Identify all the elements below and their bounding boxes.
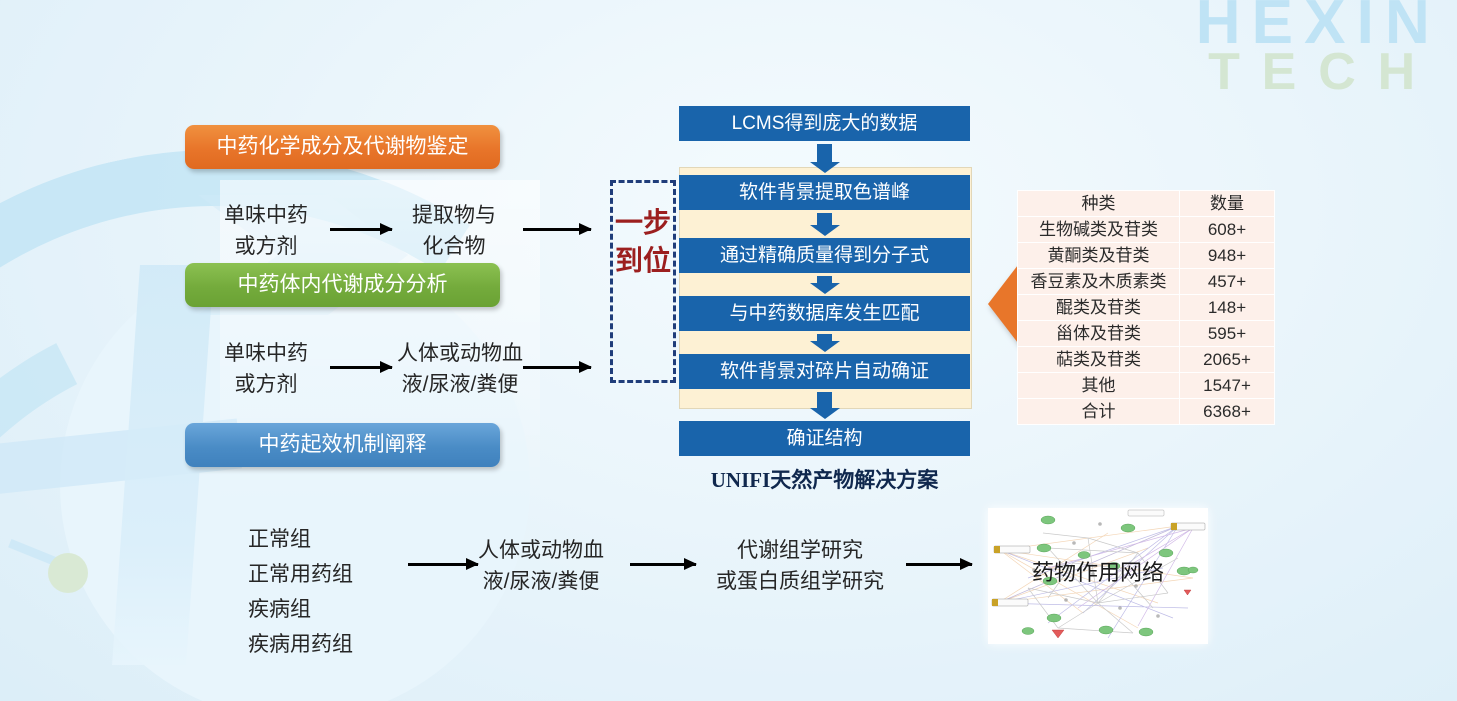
table-row-total: 合计 6368+ <box>1018 399 1275 425</box>
flow-extract-line2: 化合物 <box>384 231 524 262</box>
header-count: 数量 <box>1180 191 1275 217</box>
cell-count: 457+ <box>1180 269 1275 295</box>
flow-source-herb-1-line2: 或方剂 <box>196 231 336 262</box>
cell-category: 香豆素及木质素类 <box>1018 269 1180 295</box>
table-row: 醌类及苷类 148+ <box>1018 295 1275 321</box>
one-step-box: 一步到位 <box>610 180 676 383</box>
flow-extract-compound: 提取物与 化合物 <box>384 200 524 262</box>
group-item-disease: 疾病组 <box>248 593 311 623</box>
arrow-herb-to-extract <box>330 228 392 231</box>
center-box-result[interactable]: 确证结构 <box>679 421 970 456</box>
arrow-sample-to-study <box>630 563 696 566</box>
table-header-row: 种类 数量 <box>1018 191 1275 217</box>
cell-category: 甾体及苷类 <box>1018 321 1180 347</box>
arrow-down-4 <box>817 334 832 341</box>
arrow-down-5 <box>817 392 832 408</box>
one-step-text: 一步到位 <box>613 205 673 281</box>
group-item-normal: 正常组 <box>248 523 311 553</box>
cell-count: 2065+ <box>1180 347 1275 373</box>
stats-table: 种类 数量 生物碱类及苷类 608+ 黄酮类及苷类 948+ 香豆素及木质素类 … <box>1017 190 1275 425</box>
table-row: 萜类及苷类 2065+ <box>1018 347 1275 373</box>
center-box-step-1[interactable]: 软件背景提取色谱峰 <box>679 175 970 210</box>
section-pill-metabolism[interactable]: 中药体内代谢成分分析 <box>185 263 500 307</box>
flow-biofluid-line2: 液/尿液/粪便 <box>380 369 540 400</box>
cell-count: 948+ <box>1180 243 1275 269</box>
section-pill-chemistry[interactable]: 中药化学成分及代谢物鉴定 <box>185 125 500 169</box>
center-box-step-3[interactable]: 与中药数据库发生匹配 <box>679 296 970 331</box>
flow-bottom-study-line1: 代谢组学研究 <box>690 535 910 566</box>
cell-category: 合计 <box>1018 399 1180 425</box>
flow-source-herb-2: 单味中药 或方剂 <box>196 338 336 400</box>
flow-source-herb-2-line2: 或方剂 <box>196 369 336 400</box>
center-box-lcms[interactable]: LCMS得到庞大的数据 <box>679 106 970 141</box>
drug-network-label: 药物作用网络 <box>988 555 1208 587</box>
arrow-study-to-network <box>906 563 972 566</box>
cell-category: 黄酮类及苷类 <box>1018 243 1180 269</box>
cell-category: 萜类及苷类 <box>1018 347 1180 373</box>
stats-table-body: 种类 数量 生物碱类及苷类 608+ 黄酮类及苷类 948+ 香豆素及木质素类 … <box>1018 191 1275 425</box>
cell-count: 148+ <box>1180 295 1275 321</box>
flow-source-herb-1-line1: 单味中药 <box>196 200 336 231</box>
arrow-down-3 <box>817 276 832 283</box>
table-row: 香豆素及木质素类 457+ <box>1018 269 1275 295</box>
cell-category: 醌类及苷类 <box>1018 295 1180 321</box>
table-row: 甾体及苷类 595+ <box>1018 321 1275 347</box>
cell-count: 6368+ <box>1180 399 1275 425</box>
table-row: 黄酮类及苷类 948+ <box>1018 243 1275 269</box>
unifi-caption: UNIFI天然产物解决方案 <box>679 464 970 494</box>
center-box-step-2[interactable]: 通过精确质量得到分子式 <box>679 238 970 273</box>
watermark-hexin: HEXIN <box>1196 0 1441 54</box>
header-category: 种类 <box>1018 191 1180 217</box>
flow-bottom-study-line2: 或蛋白质组学研究 <box>690 566 910 597</box>
flow-bottom-study: 代谢组学研究 或蛋白质组学研究 <box>690 535 910 597</box>
cell-count: 608+ <box>1180 217 1275 243</box>
table-row: 其他 1547+ <box>1018 373 1275 399</box>
arrow-down-1 <box>817 144 832 162</box>
cell-count: 595+ <box>1180 321 1275 347</box>
center-box-step-4[interactable]: 软件背景对碎片自动确证 <box>679 354 970 389</box>
arrow-down-2 <box>817 213 832 225</box>
cell-count: 1547+ <box>1180 373 1275 399</box>
group-item-normal-dosed: 正常用药组 <box>248 558 353 588</box>
bg-green-dot <box>48 553 88 593</box>
flow-biofluid-line1: 人体或动物血 <box>380 338 540 369</box>
flow-source-herb-2-line1: 单味中药 <box>196 338 336 369</box>
section-pill-mechanism[interactable]: 中药起效机制阐释 <box>185 423 500 467</box>
cell-category: 其他 <box>1018 373 1180 399</box>
flow-bottom-sample-line1: 人体或动物血 <box>466 535 616 566</box>
bg-connector-line <box>8 539 58 566</box>
flow-extract-line1: 提取物与 <box>384 200 524 231</box>
cell-category: 生物碱类及苷类 <box>1018 217 1180 243</box>
flow-bottom-sample-line2: 液/尿液/粪便 <box>466 566 616 597</box>
arrow-extract-to-center <box>523 228 591 231</box>
arrow-biofluid-to-center <box>523 366 591 369</box>
table-row: 生物碱类及苷类 608+ <box>1018 217 1275 243</box>
watermark-tech: TECH <box>1208 46 1437 98</box>
flow-source-herb-1: 单味中药 或方剂 <box>196 200 336 262</box>
group-item-disease-dosed: 疾病用药组 <box>248 628 353 658</box>
flow-bottom-sample: 人体或动物血 液/尿液/粪便 <box>466 535 616 597</box>
flow-biofluid: 人体或动物血 液/尿液/粪便 <box>380 338 540 400</box>
